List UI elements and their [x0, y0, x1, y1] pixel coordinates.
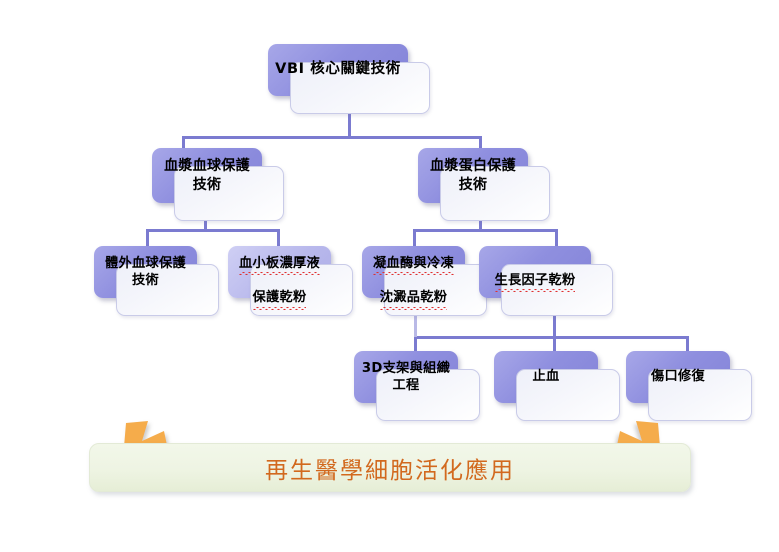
node-growth-factor-body: 生長因子乾粉: [501, 264, 613, 316]
node-hemostasis-label: 止血: [495, 368, 597, 385]
node-growth-factor[interactable]: 生長因子乾粉: [479, 246, 591, 298]
node-plasma-blood-cell-label: 血漿血球保護 技術: [153, 157, 261, 194]
node-thrombin-cryo-label: 凝血酶與冷凍 沈澱品乾粉: [363, 237, 464, 307]
node-ex-vivo-blood-cell-body: 體外血球保護 技術: [116, 264, 219, 316]
node-root-label: VBI 核心關鍵技術: [269, 60, 407, 79]
node-growth-factor-line1: 生長因子乾粉: [495, 272, 576, 289]
diagram-canvas: VBI 核心關鍵技術 血漿血球保護 技術 血漿蛋白保護 技術 體外血球保護 技術…: [0, 0, 779, 552]
node-thrombin-cryo-line2: 沈澱品乾粉: [380, 289, 447, 306]
node-plasma-protein-body: 血漿蛋白保護 技術: [440, 166, 550, 221]
node-plasma-blood-cell[interactable]: 血漿血球保護 技術: [152, 148, 262, 203]
node-growth-factor-label: 生長因子乾粉: [480, 255, 590, 290]
node-platelet-concentrate-label: 血小板濃厚液 保護乾粉: [229, 237, 330, 307]
connector-growth-factor-stem: [553, 313, 556, 337]
node-wound-repair-body: 傷口修復: [648, 369, 752, 421]
connector-root-stem: [348, 113, 351, 137]
node-thrombin-cryo-body: 凝血酶與冷凍 沈澱品乾粉: [384, 264, 487, 316]
node-ex-vivo-blood-cell-label: 體外血球保護 技術: [95, 255, 196, 290]
node-ex-vivo-blood-cell[interactable]: 體外血球保護 技術: [94, 246, 197, 298]
connector-level4-bar: [414, 336, 689, 339]
node-3d-scaffold[interactable]: 3D支架與組織 工程: [354, 351, 458, 403]
node-platelet-concentrate-line1: 血小板濃厚液: [239, 255, 320, 272]
connector-level3-left-bar: [146, 229, 280, 232]
node-root-body: VBI 核心關鍵技術: [290, 62, 430, 114]
node-thrombin-cryo-line1: 凝血酶與冷凍: [373, 255, 454, 272]
connector-root-bar: [182, 136, 482, 139]
bottom-banner[interactable]: 再生醫學細胞活化應用: [89, 443, 691, 492]
connector-thrombin-stub: [414, 313, 417, 337]
node-hemostasis[interactable]: 止血: [494, 351, 598, 403]
bottom-banner-label: 再生醫學細胞活化應用: [265, 451, 515, 485]
node-wound-repair[interactable]: 傷口修復: [626, 351, 730, 403]
node-plasma-blood-cell-body: 血漿血球保護 技術: [174, 166, 284, 221]
node-hemostasis-body: 止血: [516, 369, 620, 421]
node-wound-repair-label: 傷口修復: [627, 368, 729, 385]
node-platelet-concentrate[interactable]: 血小板濃厚液 保護乾粉: [228, 246, 331, 298]
node-thrombin-cryo[interactable]: 凝血酶與冷凍 沈澱品乾粉: [362, 246, 465, 298]
node-plasma-protein[interactable]: 血漿蛋白保護 技術: [418, 148, 528, 203]
node-3d-scaffold-body: 3D支架與組織 工程: [376, 369, 480, 421]
node-3d-scaffold-label: 3D支架與組織 工程: [355, 360, 457, 395]
node-platelet-concentrate-line2: 保護乾粉: [253, 289, 307, 306]
node-root[interactable]: VBI 核心關鍵技術: [268, 44, 408, 96]
connector-level3-right-bar: [413, 229, 558, 232]
node-platelet-concentrate-body: 血小板濃厚液 保護乾粉: [250, 264, 353, 316]
node-plasma-protein-label: 血漿蛋白保護 技術: [419, 157, 527, 194]
